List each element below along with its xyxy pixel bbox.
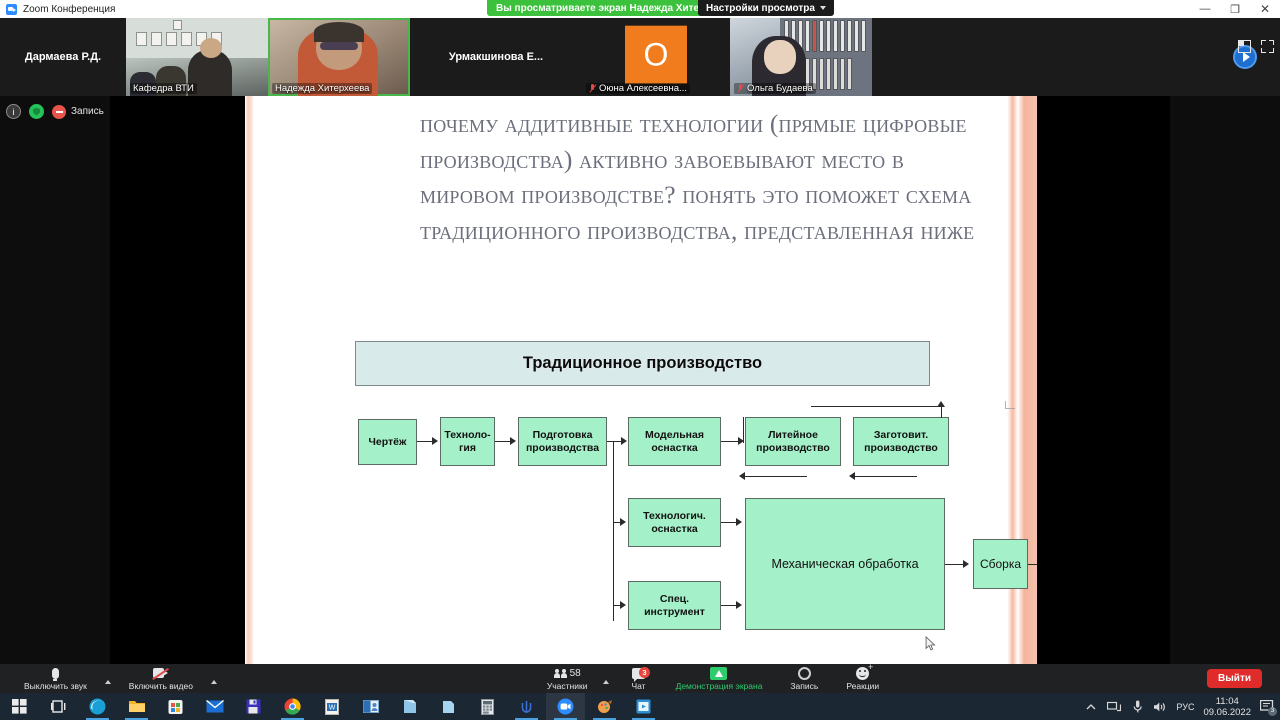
record-button-label: Запись xyxy=(790,681,818,691)
video-tile-name: Дармаева Р.Д. xyxy=(0,18,126,96)
chat-button[interactable]: 3 Чат xyxy=(615,664,661,693)
meeting-toolbar: Выключить звук Включить видео 58 Участни… xyxy=(0,664,1280,693)
diagram-box-prep: Подготовка производства xyxy=(518,417,607,466)
slide-left-accent xyxy=(245,96,254,664)
presentation-slide: Почему аддитивные технологии (прямые циф… xyxy=(245,96,1037,664)
diagram-box-technology: Техноло- гия xyxy=(440,417,495,466)
mail-icon[interactable] xyxy=(195,693,234,720)
chevron-down-icon xyxy=(820,6,826,10)
leave-meeting-button[interactable]: Выйти xyxy=(1207,669,1262,688)
audio-options-chevron[interactable] xyxy=(99,664,117,693)
video-tile-name: Надежда Хитерхеева xyxy=(272,83,372,94)
participants-button-label: Участники xyxy=(547,681,588,691)
video-tile-urmakshinova[interactable]: Урмакшинова Е... xyxy=(410,18,582,96)
clock-date: 09.06.2022 xyxy=(1203,707,1251,718)
notifications-icon[interactable]: 3 xyxy=(1260,700,1274,714)
reactions-button[interactable]: Реакции xyxy=(832,664,893,693)
video-tile-name: Кафедра ВТИ xyxy=(130,83,197,94)
diagram-box-machining: Механическая обработка xyxy=(745,498,945,630)
chat-unread-badge: 3 xyxy=(639,667,650,678)
video-tile-name: Урмакшинова Е... xyxy=(410,18,582,96)
strip-tail xyxy=(872,18,1280,96)
microphone-icon[interactable] xyxy=(1130,700,1144,714)
diagram-header: Традиционное производство xyxy=(355,341,930,386)
zoom-app-icon[interactable] xyxy=(546,693,585,720)
video-tile-nadezhda[interactable]: Надежда Хитерхеева xyxy=(268,18,410,96)
diagram-box-assembly: Сборка xyxy=(973,539,1028,589)
maximize-button[interactable]: ❐ xyxy=(1220,0,1250,18)
video-tile-oyuna[interactable]: О Оюна Алексеевна... xyxy=(582,18,730,96)
start-video-button[interactable]: Включить видео xyxy=(117,664,205,693)
avatar: О xyxy=(625,26,687,84)
shield-encryption-icon[interactable] xyxy=(29,104,44,119)
app-identity: Zoom Конференция xyxy=(0,4,115,15)
mute-button-label: Выключить звук xyxy=(24,681,87,691)
participants-count: 58 xyxy=(570,668,581,679)
video-tile-olga[interactable]: Ольга Будаева xyxy=(730,18,872,96)
start-video-button-label: Включить видео xyxy=(129,681,193,691)
record-button[interactable]: Запись xyxy=(776,664,832,693)
zoom-logo-icon xyxy=(6,4,17,15)
meeting-status-bar: i Запись xyxy=(6,104,104,119)
microsoft-store-icon[interactable] xyxy=(156,693,195,720)
windows-taskbar: W xyxy=(0,693,1280,720)
video-tile-name: Ольга Будаева xyxy=(734,83,816,94)
task-view-icon[interactable] xyxy=(39,693,78,720)
chevron-up-icon[interactable] xyxy=(1084,700,1098,714)
video-tile-name: Оюна Алексеевна... xyxy=(586,83,690,94)
edge-icon[interactable] xyxy=(78,693,117,720)
floppy-save-icon[interactable] xyxy=(234,693,273,720)
view-options-button[interactable]: Настройки просмотра xyxy=(698,0,834,16)
input-language[interactable]: РУС xyxy=(1176,702,1194,712)
diagram-box-blank: Заготовит. производство xyxy=(853,417,949,466)
info-icon[interactable]: i xyxy=(6,104,21,119)
mouse-pointer-icon xyxy=(925,636,936,652)
clock-time: 11:04 xyxy=(1203,696,1251,707)
file-explorer-icon[interactable] xyxy=(117,693,156,720)
mic-off-icon xyxy=(737,84,744,94)
video-tile-darmaeva[interactable]: Дармаева Р.Д. xyxy=(0,18,126,96)
process-diagram: Традиционное производство Чертёж Техноло… xyxy=(355,341,995,651)
close-button[interactable]: ✕ xyxy=(1250,0,1280,18)
svg-text:W: W xyxy=(328,704,335,711)
mute-button[interactable]: Выключить звук xyxy=(0,664,99,693)
blue-doc-icon[interactable] xyxy=(429,693,468,720)
participants-options-chevron[interactable] xyxy=(597,664,615,693)
chat-button-label: Чат xyxy=(631,681,645,691)
system-tray: РУС 11:04 09.06.2022 3 xyxy=(1084,696,1280,718)
share-screen-button[interactable]: Демонстрация экрана xyxy=(662,664,777,693)
chat-icon: 3 xyxy=(632,667,645,680)
clock[interactable]: 11:04 09.06.2022 xyxy=(1203,696,1251,718)
window-title: Zoom Конференция xyxy=(23,4,115,15)
video-options-chevron[interactable] xyxy=(205,664,223,693)
psi-app-icon[interactable] xyxy=(507,693,546,720)
participants-icon: 58 xyxy=(554,667,581,680)
diagram-box-special-tool: Спец. инструмент xyxy=(628,581,721,630)
video-tile-kafedra[interactable]: Кафедра ВТИ xyxy=(126,18,268,96)
view-layout-icon[interactable] xyxy=(1238,40,1251,53)
chrome-icon[interactable] xyxy=(273,693,312,720)
minimize-button[interactable]: — xyxy=(1190,0,1220,18)
diagram-box-drawing: Чертёж xyxy=(358,419,417,465)
participants-button[interactable]: 58 Участники xyxy=(537,664,598,693)
camera-off-icon xyxy=(153,667,168,680)
slide-corner-mark xyxy=(1005,401,1015,409)
slide-title: Почему аддитивные технологии (прямые циф… xyxy=(420,106,980,248)
mic-off-icon xyxy=(589,84,596,94)
view-options-label: Настройки просмотра xyxy=(706,3,815,14)
window-controls: — ❐ ✕ xyxy=(1190,0,1280,18)
strip-view-icons xyxy=(1238,40,1274,53)
diagram-box-tech-tooling: Технологич. оснастка xyxy=(628,498,721,547)
chevron-up-icon xyxy=(105,680,111,684)
paint-icon[interactable] xyxy=(585,693,624,720)
chevron-up-icon xyxy=(211,680,217,684)
calculator-icon[interactable] xyxy=(468,693,507,720)
network-icon[interactable] xyxy=(1107,700,1121,714)
recording-icon xyxy=(52,105,66,119)
volume-icon[interactable] xyxy=(1153,700,1167,714)
zoom-meeting-window: Zoom Конференция — ❐ ✕ Вы просматриваете… xyxy=(0,0,1280,720)
media-player-icon[interactable] xyxy=(624,693,663,720)
fullscreen-icon[interactable] xyxy=(1261,40,1274,53)
microphone-icon xyxy=(52,667,59,680)
windows-start-icon[interactable] xyxy=(0,693,39,720)
share-screen-button-label: Демонстрация экрана xyxy=(676,681,763,691)
reactions-button-label: Реакции xyxy=(846,681,879,691)
recording-label: Запись xyxy=(71,106,104,117)
diagram-box-casting: Литейное производство xyxy=(745,417,841,466)
notepad-icon[interactable] xyxy=(390,693,429,720)
word-document-icon[interactable]: W xyxy=(312,693,351,720)
share-screen-icon xyxy=(710,667,727,680)
outlook-contacts-icon[interactable] xyxy=(351,693,390,720)
diagram-box-model-tooling: Модельная оснастка xyxy=(628,417,721,466)
participant-video-strip: Дармаева Р.Д. Кафедра ВТИ Над xyxy=(0,18,1280,96)
record-icon xyxy=(798,667,811,680)
notifications-count: 3 xyxy=(1268,707,1277,716)
shared-screen-stage[interactable]: Почему аддитивные технологии (прямые циф… xyxy=(110,96,1170,664)
reactions-icon xyxy=(856,667,869,680)
recording-indicator[interactable]: Запись xyxy=(52,105,104,119)
chevron-up-icon xyxy=(603,680,609,684)
